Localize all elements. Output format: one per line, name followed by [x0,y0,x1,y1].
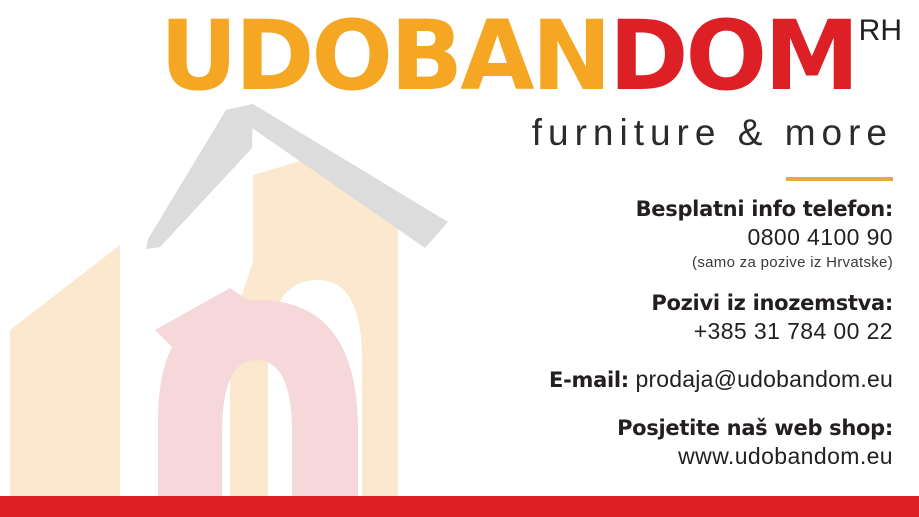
contact-email-group: E-mail: prodaja@udobandom.eu [253,365,893,395]
logo-superscript-rh: RH [859,14,902,47]
spacer-1 [253,273,893,290]
orange-divider-rule [786,177,893,181]
webshop-value[interactable]: www.udobandom.eu [253,442,893,472]
phone-label: Besplatni info telefon: [253,196,893,223]
logo-wordmark: UDOBANDOMRH [160,8,900,104]
webshop-label: Posjetite naš web shop: [253,415,893,442]
contact-webshop-group: Posjetite naš web shop: www.udobandom.eu [253,415,893,472]
email-label: E-mail: [549,368,629,392]
logo-text-udoban: UDOBAN [160,0,609,112]
email-value[interactable]: prodaja@udobandom.eu [635,366,893,392]
international-value[interactable]: +385 31 784 00 22 [253,317,893,347]
contact-international-group: Pozivi iz inozemstva: +385 31 784 00 22 [253,290,893,347]
contact-block: Besplatni info telefon: 0800 4100 90 (sa… [253,196,893,471]
international-label: Pozivi iz inozemstva: [253,290,893,317]
logo: UDOBANDOMRH [0,8,900,104]
spacer-3 [253,395,893,415]
phone-note: (samo za pozive iz Hrvatske) [253,253,893,273]
contact-phone-group: Besplatni info telefon: 0800 4100 90 (sa… [253,196,893,273]
logo-text-dom: DOM [609,0,857,112]
bottom-accent-bar [0,496,919,517]
email-line: E-mail: prodaja@udobandom.eu [253,365,893,395]
phone-value[interactable]: 0800 4100 90 [253,223,893,253]
spacer-2 [253,347,893,365]
logo-tagline: furniture & more [532,112,893,154]
business-card: UDOBANDOMRH furniture & more Besplatni i… [0,0,919,517]
